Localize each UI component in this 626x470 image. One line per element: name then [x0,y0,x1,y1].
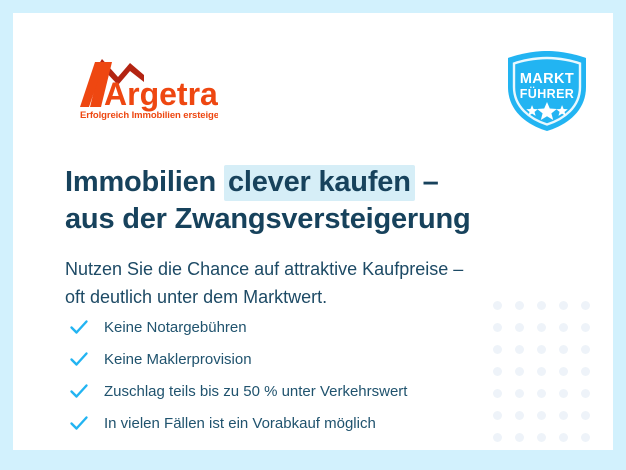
headline-suffix: – [415,166,439,198]
pattern-dot [581,345,590,354]
logo-wordmark-text: Argetra [104,76,218,112]
pattern-dot [559,411,568,420]
pattern-dot [559,301,568,310]
pattern-dot [537,411,546,420]
subtitle-line2: oft deutlich unter dem Marktwert. [65,283,545,311]
check-icon [68,380,90,402]
check-icon [68,412,90,434]
pattern-dot [493,389,502,398]
pattern-dot [581,367,590,376]
headline-line1: Immobilien clever kaufen – [65,165,439,201]
headline-prefix: Immobilien [65,166,224,198]
headline: Immobilien clever kaufen – aus der Zwang… [65,164,535,238]
pattern-dot [559,345,568,354]
pattern-dot [559,367,568,376]
promo-banner: Argetra Erfolgreich Immobilien ersteiger… [0,0,626,470]
pattern-dot [515,367,524,376]
pattern-dot [537,367,546,376]
pattern-dot [515,345,524,354]
subtitle-line1: Nutzen Sie die Chance auf attraktive Kau… [65,255,545,283]
pattern-dot [493,433,502,442]
pattern-dot [581,389,590,398]
pattern-dot [559,433,568,442]
list-item: Zuschlag teils bis zu 50 % unter Verkehr… [68,375,407,407]
pattern-dot [559,323,568,332]
pattern-dot [493,345,502,354]
pattern-dot [537,433,546,442]
pattern-dot [537,323,546,332]
list-item-label: In vielen Fällen ist ein Vorabkauf mögli… [104,415,376,432]
pattern-dot [493,323,502,332]
pattern-dot [581,411,590,420]
badge-line1-text: MARKT [520,71,574,87]
list-item-label: Keine Maklerprovision [104,351,252,368]
banner-card: Argetra Erfolgreich Immobilien ersteiger… [13,13,613,450]
market-leader-badge: MARKT FÜHRER [502,49,592,133]
list-item: Keine Maklerprovision [68,343,407,375]
pattern-dot [515,433,524,442]
pattern-dot [493,411,502,420]
dot-pattern-decoration [493,301,603,450]
pattern-dot [559,389,568,398]
list-item: In vielen Fällen ist ein Vorabkauf mögli… [68,407,407,439]
feature-list: Keine Notargebühren Keine Maklerprovisio… [68,311,407,439]
check-icon [68,316,90,338]
pattern-dot [515,323,524,332]
headline-line2: aus der Zwangsversteigerung [65,201,535,238]
check-icon [68,348,90,370]
pattern-dot [537,389,546,398]
headline-highlight: clever kaufen [224,165,415,201]
list-item-label: Keine Notargebühren [104,319,247,336]
pattern-dot [581,433,590,442]
argetra-logo[interactable]: Argetra Erfolgreich Immobilien ersteiger… [68,55,218,121]
list-item-label: Zuschlag teils bis zu 50 % unter Verkehr… [104,383,407,400]
argetra-logo-mark: Argetra Erfolgreich Immobilien ersteiger… [68,55,218,121]
pattern-dot [537,345,546,354]
pattern-dot [581,301,590,310]
shield-icon: MARKT FÜHRER [502,49,592,133]
logo-tagline-text: Erfolgreich Immobilien ersteigern [80,110,218,121]
pattern-dot [515,411,524,420]
subtitle: Nutzen Sie die Chance auf attraktive Kau… [65,255,545,311]
pattern-dot [581,323,590,332]
pattern-dot [515,389,524,398]
pattern-dot [493,367,502,376]
badge-line2-text: FÜHRER [520,86,574,101]
list-item: Keine Notargebühren [68,311,407,343]
